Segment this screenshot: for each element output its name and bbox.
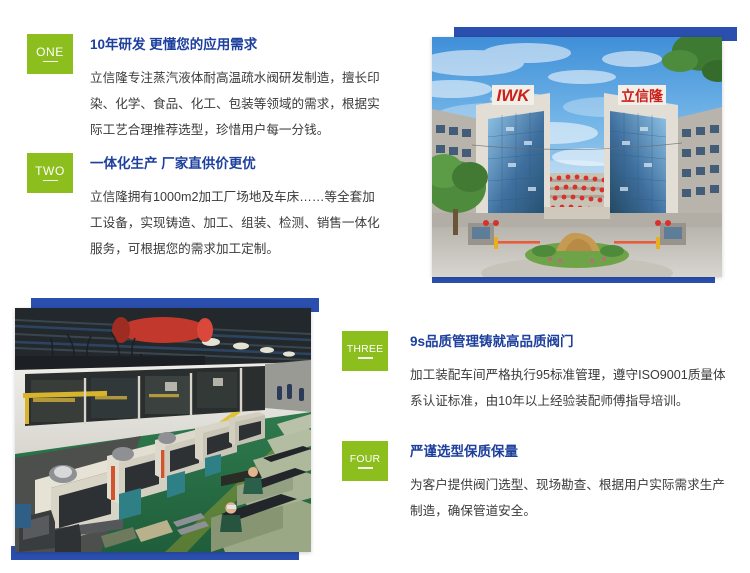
feature-title-two: 一体化生产 厂家直供价更优 <box>90 156 387 172</box>
feature-badge-label: THREE <box>347 344 384 358</box>
feature-desc-three: 加工装配车间严格执行95标准管理，遵守ISO9001质量体系认证标准，由10年以… <box>410 362 737 414</box>
feature-desc-one: 立信隆专注蒸汽液体耐高温疏水阀研发制造，擅长印染、化学、食品、化工、包装等领域的… <box>90 65 387 143</box>
feature-body: 10年研发 更懂您的应用需求 立信隆专注蒸汽液体耐高温疏水阀研发制造，擅长印染、… <box>90 34 387 143</box>
badge-underline-rule <box>43 61 58 63</box>
feature-body: 一体化生产 厂家直供价更优 立信隆拥有1000m2加工厂场地及车床……等全套加工… <box>90 153 387 262</box>
building-photo-illustration: IWK 立信隆 <box>432 37 722 277</box>
feature-badge-label: FOUR <box>350 454 381 468</box>
feature-item-one: ONE 10年研发 更懂您的应用需求 立信隆专注蒸汽液体耐高温疏水阀研发制造，擅… <box>27 34 387 143</box>
factory-photo-frame <box>11 298 319 560</box>
feature-badge-label: TWO <box>35 165 65 180</box>
feature-badge-one: ONE <box>27 34 73 74</box>
building-photo-frame: IWK 立信隆 <box>432 27 737 283</box>
feature-badge-two: TWO <box>27 153 73 193</box>
feature-body: 严谨选型保质保量 为客户提供阀门选型、现场勘查、根据用户实际需求生产制造，确保管… <box>410 441 737 524</box>
feature-title-one: 10年研发 更懂您的应用需求 <box>90 37 387 53</box>
feature-badge-four: FOUR <box>342 441 388 481</box>
badge-underline-rule <box>358 467 373 469</box>
feature-title-three: 9s品质管理铸就高品质阀门 <box>410 334 737 350</box>
factory-photo <box>15 308 311 552</box>
building-sign-left-text: IWK <box>496 86 531 105</box>
feature-badge-label: ONE <box>36 46 64 61</box>
feature-desc-four: 为客户提供阀门选型、现场勘查、根据用户实际需求生产制造，确保管道安全。 <box>410 472 737 524</box>
feature-body: 9s品质管理铸就高品质阀门 加工装配车间严格执行95标准管理，遵守ISO9001… <box>410 331 737 414</box>
building-sign-right-text: 立信隆 <box>621 88 664 105</box>
factory-photo-illustration <box>15 308 311 552</box>
feature-desc-two: 立信隆拥有1000m2加工厂场地及车床……等全套加工设备，实现铸造、加工、组装、… <box>90 184 387 262</box>
badge-underline-rule <box>43 180 58 182</box>
badge-underline-rule <box>358 357 373 359</box>
feature-badge-three: THREE <box>342 331 388 371</box>
feature-title-four: 严谨选型保质保量 <box>410 444 737 460</box>
building-photo: IWK 立信隆 <box>432 37 722 277</box>
feature-item-three: THREE 9s品质管理铸就高品质阀门 加工装配车间严格执行95标准管理，遵守I… <box>342 331 737 414</box>
feature-item-two: TWO 一体化生产 厂家直供价更优 立信隆拥有1000m2加工厂场地及车床……等… <box>27 153 387 262</box>
feature-item-four: FOUR 严谨选型保质保量 为客户提供阀门选型、现场勘查、根据用户实际需求生产制… <box>342 441 737 524</box>
